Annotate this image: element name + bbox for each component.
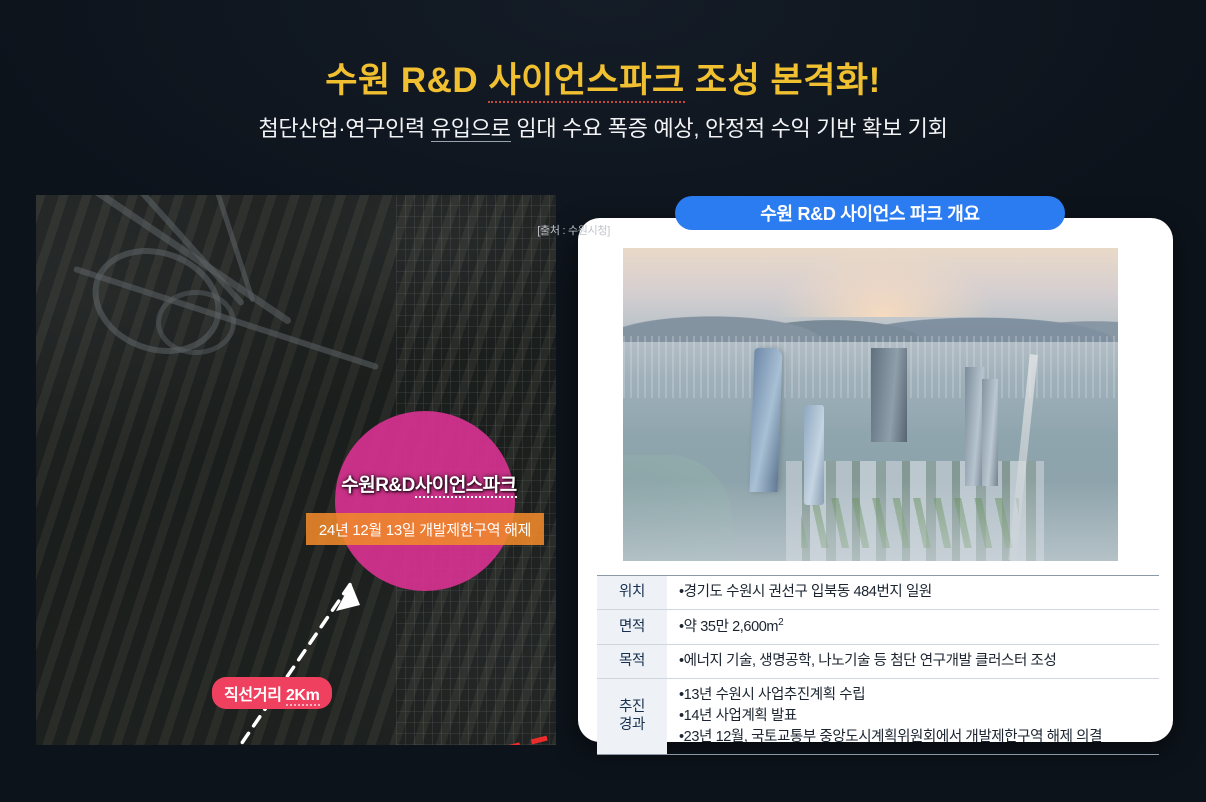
greenbelt-release-banner: 24년 12월 13일 개발제한구역 해제 [306, 513, 544, 545]
page-subtitle: 첨단산업·연구인력 유입으로 임대 수요 폭증 예상, 안정적 수익 기반 확보… [0, 111, 1206, 143]
overview-table-element: 위치•경기도 수원시 권선구 입북동 484번지 일원면적•약 35만 2,60… [597, 575, 1159, 755]
overview-card-title-badge: 수원 R&D 사이언스 파크 개요 [675, 196, 1065, 230]
overview-table-body: 위치•경기도 수원시 권선구 입북동 484번지 일원면적•약 35만 2,60… [597, 576, 1159, 755]
table-row-key: 추진 경과 [597, 678, 667, 754]
apartment-tower [982, 379, 998, 485]
table-row-key: 면적 [597, 610, 667, 645]
table-value-line: •14년 사업계획 발표 [679, 706, 1155, 727]
overview-card-title: 수원 R&D 사이언스 파크 개요 [760, 200, 980, 226]
rendering-image [623, 248, 1118, 561]
page-subtitle-pre: 첨단산업·연구인력 [258, 116, 430, 141]
table-row-value: •에너지 기술, 생명공학, 나노기술 등 첨단 연구개발 클러스터 조성 [667, 644, 1159, 678]
science-park-label-pre: 수원R&D [341, 475, 415, 496]
source-label: [출처 : 수원시청] [537, 222, 610, 238]
table-row: 목적•에너지 기술, 생명공학, 나노기술 등 첨단 연구개발 클러스터 조성 [597, 644, 1159, 678]
greenbelt-release-text: 24년 12월 13일 개발제한구역 해제 [319, 519, 531, 540]
science-park-area-circle [335, 411, 515, 591]
page-title-post: 조성 본격화! [685, 61, 881, 100]
page-title: 수원 R&D 사이언스파크 조성 본격화! [325, 62, 881, 101]
table-row-key: 위치 [597, 576, 667, 610]
page-title-pre: 수원 R&D [325, 61, 488, 100]
office-tower [871, 348, 907, 442]
straight-distance-pre: 직선거리 [224, 687, 286, 704]
table-value-line: •13년 수원시 사업추진계획 수립 [679, 685, 1155, 706]
table-row: 추진 경과•13년 수원시 사업추진계획 수립•14년 사업계획 발표•23년 … [597, 678, 1159, 754]
page-subtitle-spell: 유입으로 [431, 116, 511, 142]
straight-distance-value: 2Km [286, 687, 320, 706]
table-value-line: •약 35만 2,600m2 [679, 616, 1155, 638]
straight-distance-badge: 직선거리 2Km [212, 677, 332, 709]
table-row-value: •경기도 수원시 권선구 입북동 484번지 일원 [667, 576, 1159, 610]
satellite-map-panel[interactable]: 수원R&D사이언스파크 24년 12월 13일 개발제한구역 해제 직선거리 2… [36, 195, 556, 745]
table-value-line: •에너지 기술, 생명공학, 나노기술 등 첨단 연구개발 클러스터 조성 [679, 651, 1155, 672]
science-park-label: 수원R&D사이언스파크 [314, 470, 544, 497]
table-row: 면적•약 35만 2,600m2 [597, 610, 1159, 645]
table-row: 위치•경기도 수원시 권선구 입북동 484번지 일원 [597, 576, 1159, 610]
development-rendering [623, 248, 1118, 561]
overview-table: 위치•경기도 수원시 권선구 입북동 484번지 일원면적•약 35만 2,60… [597, 575, 1159, 755]
science-park-label-spell: 사이언스파크 [415, 475, 517, 498]
dashed-arrow-icon [146, 575, 376, 745]
poster-root: 수원 R&D 사이언스파크 조성 본격화! 첨단산업·연구인력 유입으로 임대 … [0, 0, 1206, 802]
landmark-tower [749, 348, 782, 492]
table-row-value: •약 35만 2,600m2 [667, 610, 1159, 645]
page-subtitle-post: 임대 수요 폭증 예상, 안정적 수익 기반 확보 기회 [511, 116, 948, 141]
interchange-loop [156, 290, 236, 355]
table-row-key: 목적 [597, 644, 667, 678]
page-title-spell: 사이언스파크 [488, 61, 684, 103]
table-value-line: •경기도 수원시 권선구 입북동 484번지 일원 [679, 582, 1155, 603]
foreground-mist [623, 480, 1118, 561]
table-value-line: •23년 12월, 국토교통부 중앙도시계획위원회에서 개발제한구역 해제 의결 [679, 727, 1155, 748]
table-row-value: •13년 수원시 사업추진계획 수립•14년 사업계획 발표•23년 12월, … [667, 678, 1159, 754]
header: 수원 R&D 사이언스파크 조성 본격화! 첨단산업·연구인력 유입으로 임대 … [0, 62, 1206, 143]
